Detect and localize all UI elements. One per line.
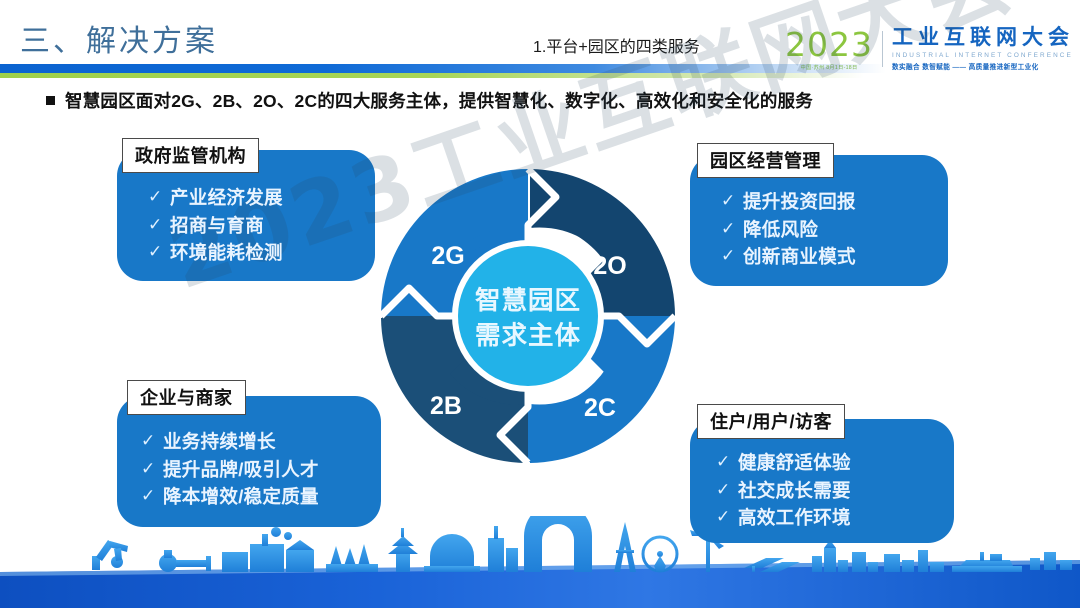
city-block-1 [812,556,822,572]
list-item-label: 降低风险 [743,218,818,242]
crane-base [326,564,378,572]
slide-root: 三、解决方案 1.平台+园区的四类服务 2023 中国·苏州 8月1日-18日 … [0,0,1080,608]
check-icon: ✓ [141,430,163,452]
list-item-label: 健康舒适体验 [738,451,851,475]
list-item: ✓ 业务持续增长 [141,430,319,454]
arch-base [424,566,480,572]
city-block-7 [902,560,914,572]
card-list-park-operation: ✓ 提升投资回报 ✓ 降低风险 ✓ 创新商业模式 [721,190,856,273]
list-item: ✓ 降本增效/稳定质量 [141,485,319,509]
pagoda-body [396,552,410,572]
list-item: ✓ 招商与育商 [148,214,283,238]
donut-label-2b: 2B [430,392,462,420]
card-title-government: 政府监管机构 [122,138,259,173]
city-block-6 [884,554,900,572]
city-block-8 [918,550,928,572]
list-item-label: 社交成长需要 [738,479,851,503]
logo-name-en: INDUSTRIAL INTERNET CONFERENCE [892,52,1074,59]
logo-name-block: 工业互联网大会 INDUSTRIAL INTERNET CONFERENCE 数… [892,27,1074,70]
bullet-heading: 智慧园区面对2G、2B、2O、2C的四大服务主体，提供智慧化、数字化、高效化和安… [46,88,813,113]
tower-block2 [506,548,518,572]
pipe-stem [164,550,172,558]
card-title-enterprise: 企业与商家 [127,380,246,415]
check-icon: ✓ [148,241,170,263]
check-icon: ✓ [148,186,170,208]
lattice-tower-icon [614,522,636,572]
card-list-enterprise: ✓ 业务持续增长 ✓ 提升品牌/吸引人才 ✓ 降本增效/稳定质量 [141,430,319,513]
factory-block-1 [222,552,248,572]
check-icon: ✓ [721,218,743,240]
check-icon: ✓ [716,479,738,501]
ship-mast [980,552,984,561]
factory-dot [271,527,281,537]
far-block-1 [1030,558,1040,570]
hub-line-2: 需求主体 [475,322,581,350]
page-title: 三、解决方案 [20,16,218,60]
city-block-4 [852,552,866,572]
bullet-square-icon [46,96,55,105]
list-item: ✓ 提升品牌/吸引人才 [141,458,319,482]
factory-roof [286,540,314,550]
list-item-label: 提升品牌/吸引人才 [163,458,319,482]
check-icon: ✓ [716,451,738,473]
tower-spire [494,526,498,539]
factory-block-3 [286,550,314,572]
list-item-label: 产业经济发展 [170,186,283,210]
card-title-resident: 住户/用户/访客 [697,404,845,439]
logo-year-block: 2023 中国·苏州 8月1日-18日 [785,28,882,71]
donut-hub[interactable] [458,246,598,386]
list-item: ✓ 产业经济发展 [148,186,283,210]
tower-block [488,538,504,572]
list-item-label: 高效工作环境 [738,506,851,530]
crane-3 [358,544,370,566]
list-item: ✓ 降低风险 [721,218,856,242]
pagoda-spire [401,528,404,537]
factory-block-2 [250,544,284,572]
far-block-3 [1060,560,1072,570]
list-item: ✓ 提升投资回报 [721,190,856,214]
card-title-park-operation: 园区经营管理 [697,143,834,178]
card-list-resident: ✓ 健康舒适体验 ✓ 社交成长需要 ✓ 高效工作环境 [716,451,851,534]
logo-separator [882,31,883,67]
ship-deck [952,566,1022,572]
donut-label-2c: 2C [584,394,616,422]
factory-chimney [262,534,268,546]
crane-2 [344,548,356,566]
city-block-5 [868,562,878,572]
list-item: ✓ 健康舒适体验 [716,451,851,475]
card-list-government: ✓ 产业经济发展 ✓ 招商与育商 ✓ 环境能耗检测 [148,186,283,269]
list-item: ✓ 社交成长需要 [716,479,851,503]
list-item: ✓ 环境能耗检测 [148,241,283,265]
list-item-label: 业务持续增长 [163,430,276,454]
check-icon: ✓ [721,245,743,267]
far-block-2 [1044,552,1056,570]
pipe-flange [206,556,211,571]
check-icon: ✓ [141,485,163,507]
ferris-wheel-legs [654,556,666,572]
pagoda-roof-2 [392,536,414,546]
logo-name-cn: 工业互联网大会 [892,27,1074,49]
list-item-label: 创新商业模式 [743,245,856,269]
logo-slogan: 数实融合 数智赋能 —— 高质量推进新型工业化 [892,61,1074,71]
section-subtitle: 1.平台+园区的四类服务 [533,33,700,57]
conference-logo: 2023 中国·苏州 8月1日-18日 工业互联网大会 INDUSTRIAL I… [785,27,1074,71]
donut-diagram: 智慧园区 需求主体 2G 2O 2C 2B [378,166,678,466]
donut-label-2g: 2G [431,242,464,270]
city-block-3 [838,560,848,572]
pipe-body [176,560,210,567]
list-item-label: 招商与育商 [170,214,264,238]
check-icon: ✓ [148,214,170,236]
city-block-2 [824,548,836,572]
list-item-label: 降本增效/稳定质量 [163,485,319,509]
list-item-label: 提升投资回报 [743,190,856,214]
logo-year: 2023 [785,28,873,61]
logo-date: 中国·苏州 8月1日-18日 [801,64,858,71]
gate-arch-icon [524,516,592,572]
city-block-9 [930,562,944,572]
crane-1 [330,546,342,566]
check-icon: ✓ [141,458,163,480]
list-item: ✓ 高效工作环境 [716,506,851,530]
check-icon: ✓ [716,506,738,528]
list-item-label: 环境能耗检测 [170,241,283,265]
lattice-tower-deck [616,550,634,553]
donut-label-2o: 2O [593,252,626,280]
bullet-heading-text: 智慧园区面对2G、2B、2O、2C的四大服务主体，提供智慧化、数字化、高效化和安… [65,88,813,113]
factory-dot2 [284,532,292,540]
ship-cabin [990,554,1002,561]
donut-svg: 智慧园区 需求主体 2G 2O 2C 2B [378,166,678,466]
header-divider-green [0,73,1080,78]
check-icon: ✓ [721,190,743,212]
list-item: ✓ 创新商业模式 [721,245,856,269]
hub-line-1: 智慧园区 [475,286,581,315]
solar-post [752,566,755,572]
